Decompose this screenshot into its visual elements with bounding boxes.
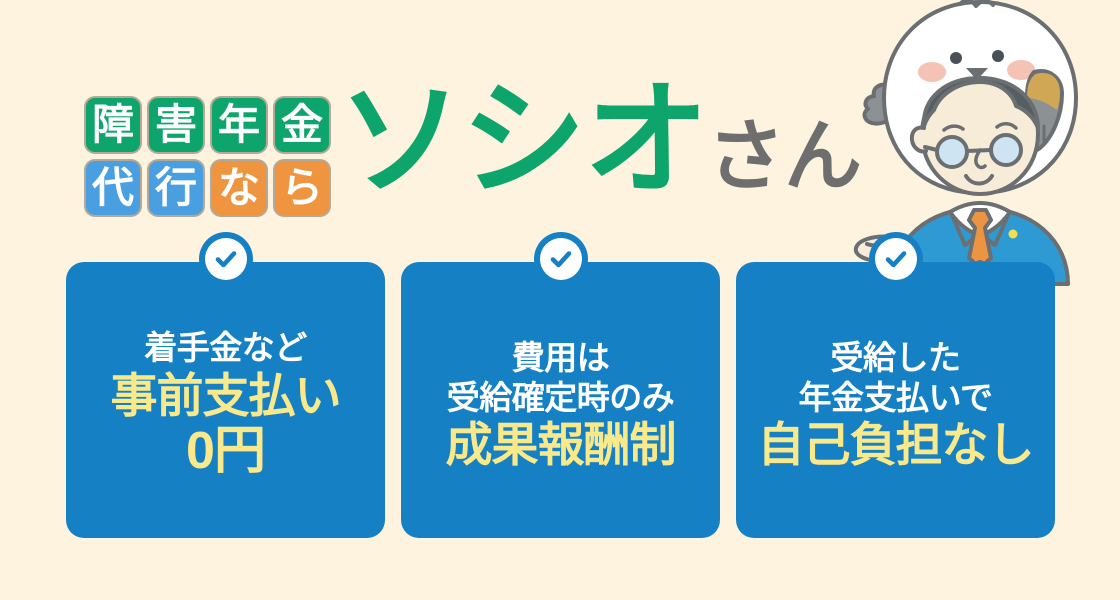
benefit-card-zero-upfront[interactable]: 着手金など 事前支払い 0円 [66,262,385,538]
mascot-bird-eye-right [992,50,1004,62]
headline-tile-ra: ら [275,161,329,215]
headline-tile-na: な [212,161,266,215]
benefit-card-highlight-1: 事前支払い [111,370,341,422]
benefit-card-text-block: 受給した 年金支払いで 自己負担なし [744,339,1047,471]
mascot-glasses-lens-right [991,135,1021,165]
benefit-card-text-block: 着手金など 事前支払い 0円 [74,329,377,480]
brand-wordmark: ソシオさん [338,78,861,203]
socio-san-mascot [820,0,1120,294]
mascot-lapel-badge [1009,230,1018,239]
headline-tile-kin: 金 [275,98,329,152]
benefit-card-success-fee[interactable]: 費用は 受給確定時のみ 成果報酬制 [401,262,720,538]
brand-name-main: ソシオ [338,71,707,210]
headline-tile-shou: 障 [86,98,140,152]
mascot-bird-eye-left [950,52,962,64]
headline-tile-row-bottom: 代 行 な ら [86,161,329,215]
benefit-card-highlight-2: 0円 [186,423,265,480]
check-circle-inner [540,238,582,280]
headline-tile-dai: 代 [86,161,140,215]
check-circle-inner [875,238,917,280]
mascot-bird-cheek-left [918,62,946,82]
benefit-card-no-self-burden[interactable]: 受給した 年金支払いで 自己負担なし [736,262,1055,538]
brand-name-suffix: さん [707,112,861,200]
benefit-card-text-block: 費用は 受給確定時のみ 成果報酬制 [409,339,712,471]
benefit-card-highlight-1: 成果報酬制 [446,419,676,471]
check-circle-icon [869,232,923,286]
benefit-card-list: 着手金など 事前支払い 0円 費用は 受給確定時のみ 成果報酬制 [66,262,1056,538]
benefit-card-subline-1: 費用は [512,339,610,377]
check-mark-path [218,254,234,266]
mascot-glasses-lens-left [937,137,967,167]
check-circle-icon [199,232,253,286]
headline-tile-gai: 害 [149,98,203,152]
headline-tile-kou: 行 [149,161,203,215]
check-circle-inner [205,238,247,280]
check-mark-path [888,254,904,266]
mascot-tie [969,210,991,268]
benefit-card-subline-1: 受給した [831,339,961,377]
headline-tile-row-top: 障 害 年 金 [86,98,329,152]
benefit-card-subline-2: 受給確定時のみ [447,379,675,417]
check-circle-icon [534,232,588,286]
promo-banner: 障 害 年 金 代 行 な ら ソシオさん [0,0,1120,600]
headline-tile-block: 障 害 年 金 代 行 な ら [86,98,329,215]
check-mark-path [553,254,569,266]
benefit-card-highlight-1: 自己負担なし [758,419,1034,471]
benefit-card-subline: 着手金など [144,329,307,367]
benefit-card-subline-2: 年金支払いで [798,379,992,417]
headline-tile-nen: 年 [212,98,266,152]
